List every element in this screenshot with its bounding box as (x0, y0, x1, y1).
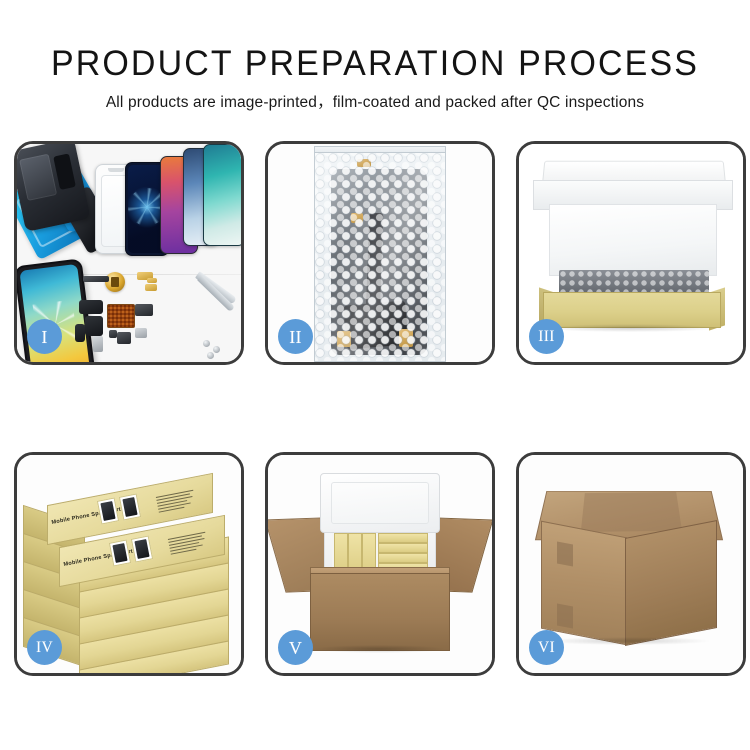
teal-gradient-phone (203, 144, 244, 246)
spare-part-sim-tray (93, 336, 103, 352)
page-subtitle: All products are image-printed，film-coat… (0, 84, 750, 113)
carton-side-face (625, 520, 717, 646)
yellow-box-item-4 (378, 533, 428, 543)
page-title: PRODUCT PREPARATION PROCESS (11, 0, 739, 84)
white-foam-sheet (549, 204, 717, 276)
drop-shadow (545, 324, 717, 332)
step-badge-2: II (278, 319, 313, 354)
drop-shadow (314, 645, 444, 653)
copper-grid-chip (107, 304, 135, 328)
step-badge-4: IV (27, 630, 62, 665)
bubble-wrap-bag (314, 152, 446, 362)
spare-part-button (109, 330, 117, 338)
carton-top-seam (581, 492, 682, 532)
yellow-box-item-6 (378, 553, 428, 563)
process-step-panel-2: II (265, 141, 495, 365)
step-badge-1: I (27, 319, 62, 354)
spare-part-camera-module (135, 304, 153, 316)
yellow-box-item-5 (378, 543, 428, 553)
kraft-box-front (543, 292, 721, 328)
process-step-panel-6: VI (516, 452, 746, 676)
process-step-panel-1: I (14, 141, 244, 365)
process-step-grid: I II (14, 141, 736, 676)
spare-part-flex-cable-1 (79, 300, 103, 314)
foam-box-lid (320, 473, 440, 533)
carton-tape-upper (557, 541, 573, 566)
spare-part-flex-cable-2 (85, 316, 103, 336)
process-step-panel-4: Mobile Phone Spare Parts Mobile Phone Sp… (14, 452, 244, 676)
header: PRODUCT PREPARATION PROCESS All products… (0, 0, 750, 113)
product-preparation-process-infographic: PRODUCT PREPARATION PROCESS All products… (0, 0, 750, 750)
screw-3 (207, 352, 214, 359)
spare-part-gold-clip (145, 284, 157, 291)
spare-part-metal-shield (135, 328, 147, 338)
carton-body (310, 573, 450, 651)
spare-part-gold-contact (147, 278, 157, 283)
carton-tape-lower (557, 603, 573, 628)
process-step-panel-3: III (516, 141, 746, 365)
drop-shadow (547, 637, 709, 645)
spare-part-speaker (117, 332, 131, 344)
process-step-panel-5: V (265, 452, 495, 676)
step-badge-5: V (278, 630, 313, 665)
step-badge-6: VI (529, 630, 564, 665)
spare-part-antenna (75, 324, 85, 342)
spare-part-connector-1 (83, 276, 109, 282)
step-badge-3: III (529, 319, 564, 354)
screw-1 (203, 340, 210, 347)
plastic-sheen (315, 153, 445, 361)
gold-chip-coin (105, 272, 125, 292)
screw-2 (213, 346, 220, 353)
carton-front-face (541, 521, 627, 646)
